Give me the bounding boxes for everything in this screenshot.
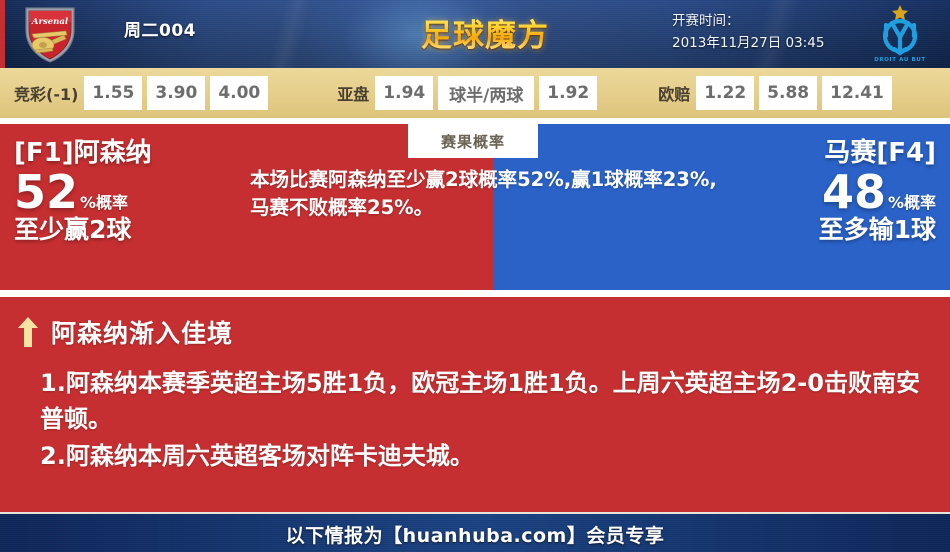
- away-team-crest-marseille: DROIT AU BUT: [862, 3, 938, 65]
- home-percent-unit: %概率: [80, 189, 128, 213]
- intel-list-item: 2.阿森纳本周六英超客场对阵卡迪夫城。: [40, 438, 930, 474]
- odds-cell-handicap-line[interactable]: 球半/两球: [438, 76, 534, 110]
- away-percent-value: 48: [822, 169, 886, 215]
- arrow-up-icon: [18, 317, 38, 347]
- odds-group-label: 竞彩(-1): [14, 81, 78, 105]
- odds-cell[interactable]: 1.22: [696, 76, 754, 110]
- probability-summary-text: 本场比赛阿森纳至少赢2球概率52%,赢1球概率23%,马赛不败概率25%。: [250, 166, 720, 221]
- odds-bar: 竞彩(-1) 1.55 3.90 4.00 亚盘 1.94 球半/两球 1.92…: [0, 68, 950, 118]
- intel-list: 1.阿森纳本赛季英超主场5胜1负，欧冠主场1胜1负。上周六英超主场2-0击败南安…: [40, 365, 930, 474]
- away-team-name: 马赛[F4]: [686, 140, 936, 167]
- tab-result-probability-label: 赛果概率: [441, 131, 505, 152]
- odds-cell[interactable]: 1.92: [539, 76, 597, 110]
- odds-cell[interactable]: 1.94: [375, 76, 433, 110]
- infographic-page: Arsenal 周二004 足球魔方 开赛时间： 2013年11月27日 03:…: [0, 0, 950, 552]
- brand-logo-text: 足球魔方: [421, 10, 549, 55]
- intel-list-item: 1.阿森纳本赛季英超主场5胜1负，欧冠主场1胜1负。上周六英超主场2-0击败南安…: [40, 365, 930, 438]
- intel-section: 阿森纳渐入佳境 1.阿森纳本赛季英超主场5胜1负，欧冠主场1胜1负。上周六英超主…: [0, 290, 950, 512]
- tab-result-probability[interactable]: 赛果概率: [408, 124, 538, 158]
- header-left-red-edge: [0, 0, 5, 68]
- footer-bar: 以下情报为【huanhuba.com】会员专享: [0, 512, 950, 552]
- kickoff-time-block: 开赛时间： 2013年11月27日 03:45: [672, 10, 824, 55]
- brand-logo: 足球魔方: [400, 4, 570, 60]
- svg-text:Arsenal: Arsenal: [31, 17, 69, 27]
- probability-panel: 赛果概率 [F1]阿森纳 52 %概率 至少赢2球 马赛[F4] 48 %概率 …: [0, 118, 950, 290]
- odds-cell[interactable]: 3.90: [147, 76, 205, 110]
- odds-group-label: 欧赔: [658, 81, 690, 105]
- home-probability-block: [F1]阿森纳 52 %概率 至少赢2球: [14, 140, 264, 243]
- away-outcome-label: 至多输1球: [686, 216, 936, 243]
- home-percent-row: 52 %概率: [14, 169, 264, 215]
- match-number: 周二004: [124, 16, 196, 41]
- odds-cell[interactable]: 1.55: [84, 76, 142, 110]
- divider: [0, 290, 950, 297]
- match-header: Arsenal 周二004 足球魔方 开赛时间： 2013年11月27日 03:…: [0, 0, 950, 68]
- away-probability-block: 马赛[F4] 48 %概率 至多输1球: [686, 140, 936, 243]
- home-team-name: [F1]阿森纳: [14, 140, 264, 167]
- kickoff-label: 开赛时间：: [672, 10, 824, 32]
- away-percent-row: 48 %概率: [686, 169, 936, 215]
- away-percent-unit: %概率: [888, 189, 936, 213]
- intel-heading: 阿森纳渐入佳境: [18, 314, 233, 350]
- away-crest-motto: DROIT AU BUT: [874, 57, 926, 63]
- footer-membership-notice: 以下情报为【huanhuba.com】会员专享: [286, 521, 665, 548]
- home-team-crest-arsenal: Arsenal: [22, 4, 78, 64]
- header-diagonal-stripe-left: [230, 0, 350, 68]
- odds-group-jingcai: 竞彩(-1) 1.55 3.90 4.00: [14, 76, 273, 110]
- home-percent-value: 52: [14, 169, 78, 215]
- odds-group-label: 亚盘: [337, 81, 369, 105]
- odds-cell[interactable]: 5.88: [759, 76, 817, 110]
- intel-title: 阿森纳渐入佳境: [51, 314, 233, 350]
- odds-cell[interactable]: 4.00: [210, 76, 268, 110]
- home-outcome-label: 至少赢2球: [14, 216, 264, 243]
- odds-group-asian-handicap: 亚盘 1.94 球半/两球 1.92: [337, 76, 602, 110]
- odds-cell[interactable]: 12.41: [822, 76, 892, 110]
- kickoff-value: 2013年11月27日 03:45: [672, 32, 824, 54]
- odds-group-european: 欧赔 1.22 5.88 12.41: [658, 76, 897, 110]
